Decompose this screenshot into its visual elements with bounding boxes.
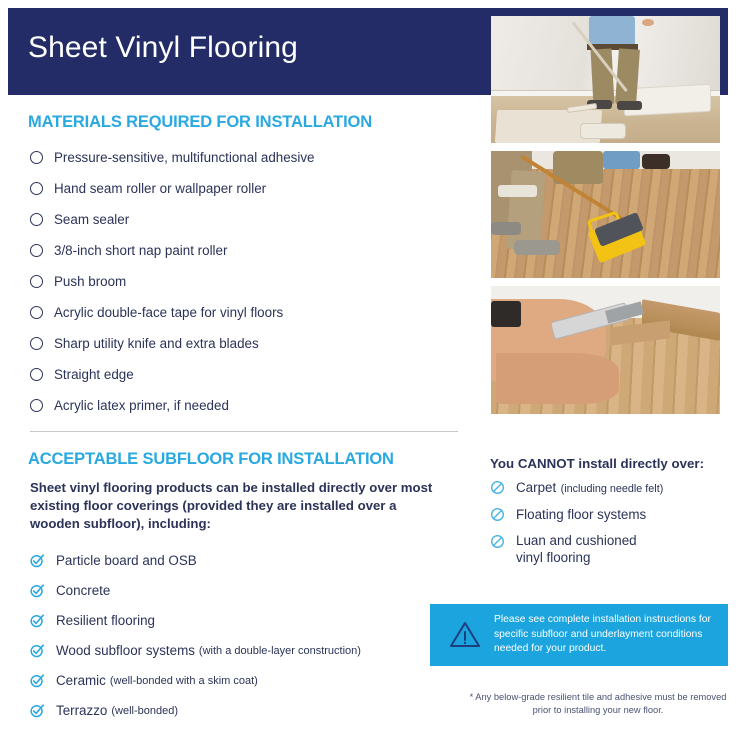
subfloor-list: Particle board and OSB Concrete Resilien… [8,546,480,728]
footnote: * Any below-grade resilient tile and adh… [468,691,728,718]
check-circle-icon [30,703,45,718]
list-item: Floating floor systems [480,506,728,524]
subfloor-intro-text: Sheet vinyl flooring products can be ins… [8,479,480,534]
check-circle-icon [30,673,45,688]
list-item: Resilient flooring [8,606,480,636]
list-item-label: Resilient flooring [56,613,155,628]
photo2-knee-pad [498,185,537,196]
list-item-label: Concrete [56,583,110,598]
empty-circle-icon [30,306,43,319]
list-item-label: Push broom [54,274,126,289]
empty-circle-icon [30,337,43,350]
cannot-section-title: You CANNOT install directly over: [480,456,728,471]
list-item-label: Terrazzo [56,703,107,718]
list-item-label: Wood subfloor systems [56,643,195,658]
photo-trimming-vinyl-with-utility-knife [491,286,720,414]
infographic-canvas: Sheet Vinyl Flooring [8,8,728,728]
photo2-second-worker-torso [603,151,640,169]
list-item: Ceramic (well-bonded with a skim coat) [8,666,480,696]
list-item: Luan and cushioned vinyl flooring [480,533,728,567]
list-item: Acrylic latex primer, if needed [8,390,480,421]
list-item-text: Floating floor systems [516,506,646,524]
check-circle-icon [30,583,45,598]
cannot-install-section: You CANNOT install directly over: Carpet… [480,456,728,576]
photo2-worker-shoe-right [514,240,560,255]
list-item: 3/8-inch short nap paint roller [8,235,480,266]
photo2-worker-shoe-left [491,222,521,235]
empty-circle-icon [30,399,43,412]
empty-circle-icon [30,275,43,288]
left-content-column: MATERIALS REQUIRED FOR INSTALLATION Pres… [8,95,480,728]
section-divider [30,431,458,432]
list-item: Seam sealer [8,204,480,235]
check-circle-icon [30,553,45,568]
subfloor-section-title: ACCEPTABLE SUBFLOOR FOR INSTALLATION [8,450,480,469]
list-item-label: Sharp utility knife and extra blades [54,336,259,351]
list-item-label: Acrylic double-face tape for vinyl floor… [54,305,283,320]
list-item: Push broom [8,266,480,297]
list-item-label: 3/8-inch short nap paint roller [54,243,227,258]
photo1-worker-leg-right [615,48,639,105]
list-item-text: Carpet (including needle felt) [516,479,663,497]
photo-rolling-adhesive-on-subfloor [491,16,720,143]
empty-circle-icon [30,213,43,226]
list-item-label: Acrylic latex primer, if needed [54,398,229,413]
empty-circle-icon [30,244,43,257]
list-item-label: Carpet [516,480,556,495]
photo1-worker-shoe-right [617,101,642,110]
materials-section-title: MATERIALS REQUIRED FOR INSTALLATION [8,113,480,132]
photo-column [483,8,728,448]
list-item-label: Luan and cushioned vinyl flooring [516,533,641,566]
empty-circle-icon [30,182,43,195]
photo3-wristwatch [491,301,521,327]
list-item-note: (including needle felt) [561,483,664,495]
installation-instructions-callout: Please see complete installation instruc… [430,604,728,666]
list-item: Concrete [8,576,480,606]
empty-circle-icon [30,151,43,164]
list-item-label: Pressure-sensitive, multifunctional adhe… [54,150,315,165]
photo1-worker-hand [642,19,653,27]
list-item-note: (well-bonded) [111,705,178,717]
list-item: Terrazzo (well-bonded) [8,696,480,726]
callout-text: Please see complete installation instruc… [494,613,718,657]
list-item: Pressure-sensitive, multifunctional adhe… [8,142,480,173]
photo2-second-worker-arm [642,154,669,169]
warning-triangle-icon [448,618,482,652]
page-title: Sheet Vinyl Flooring [28,31,298,64]
list-item-label: Particle board and OSB [56,553,197,568]
check-circle-icon [30,613,45,628]
prohibition-icon [490,480,505,495]
list-item-text: Luan and cushioned vinyl flooring [516,533,641,567]
list-item-label: Ceramic [56,673,106,688]
list-item: Hand seam roller or wallpaper roller [8,173,480,204]
list-item: Particle board and OSB [8,546,480,576]
prohibition-icon [490,507,505,522]
list-item-label: Floating floor systems [516,507,646,522]
list-item: Acrylic double-face tape for vinyl floor… [8,297,480,328]
photo3-hand-lower [496,353,620,404]
list-item: Sharp utility knife and extra blades [8,328,480,359]
photo-push-broom-on-wood-floor [491,151,720,278]
list-item-label: Seam sealer [54,212,129,227]
check-circle-icon [30,643,45,658]
materials-list: Pressure-sensitive, multifunctional adhe… [8,142,480,421]
list-item: Straight edge [8,359,480,390]
list-item-label: Straight edge [54,367,134,382]
list-item-note: (well-bonded with a skim coat) [110,675,258,687]
photo1-worker-torso [589,16,635,46]
list-item: Solid PVC and VCT (well-bonded on and ab… [8,726,480,728]
list-item-note: (with a double-layer construction) [199,645,361,657]
list-item-label: Hand seam roller or wallpaper roller [54,181,266,196]
list-item: Wood subfloor systems (with a double-lay… [8,636,480,666]
empty-circle-icon [30,368,43,381]
list-item: Carpet (including needle felt) [480,479,728,497]
infographic-page: Sheet Vinyl Flooring [0,0,736,736]
photo1-vinyl-roll [624,84,711,116]
prohibition-icon [490,534,505,549]
photo1-paint-tray [580,123,626,140]
